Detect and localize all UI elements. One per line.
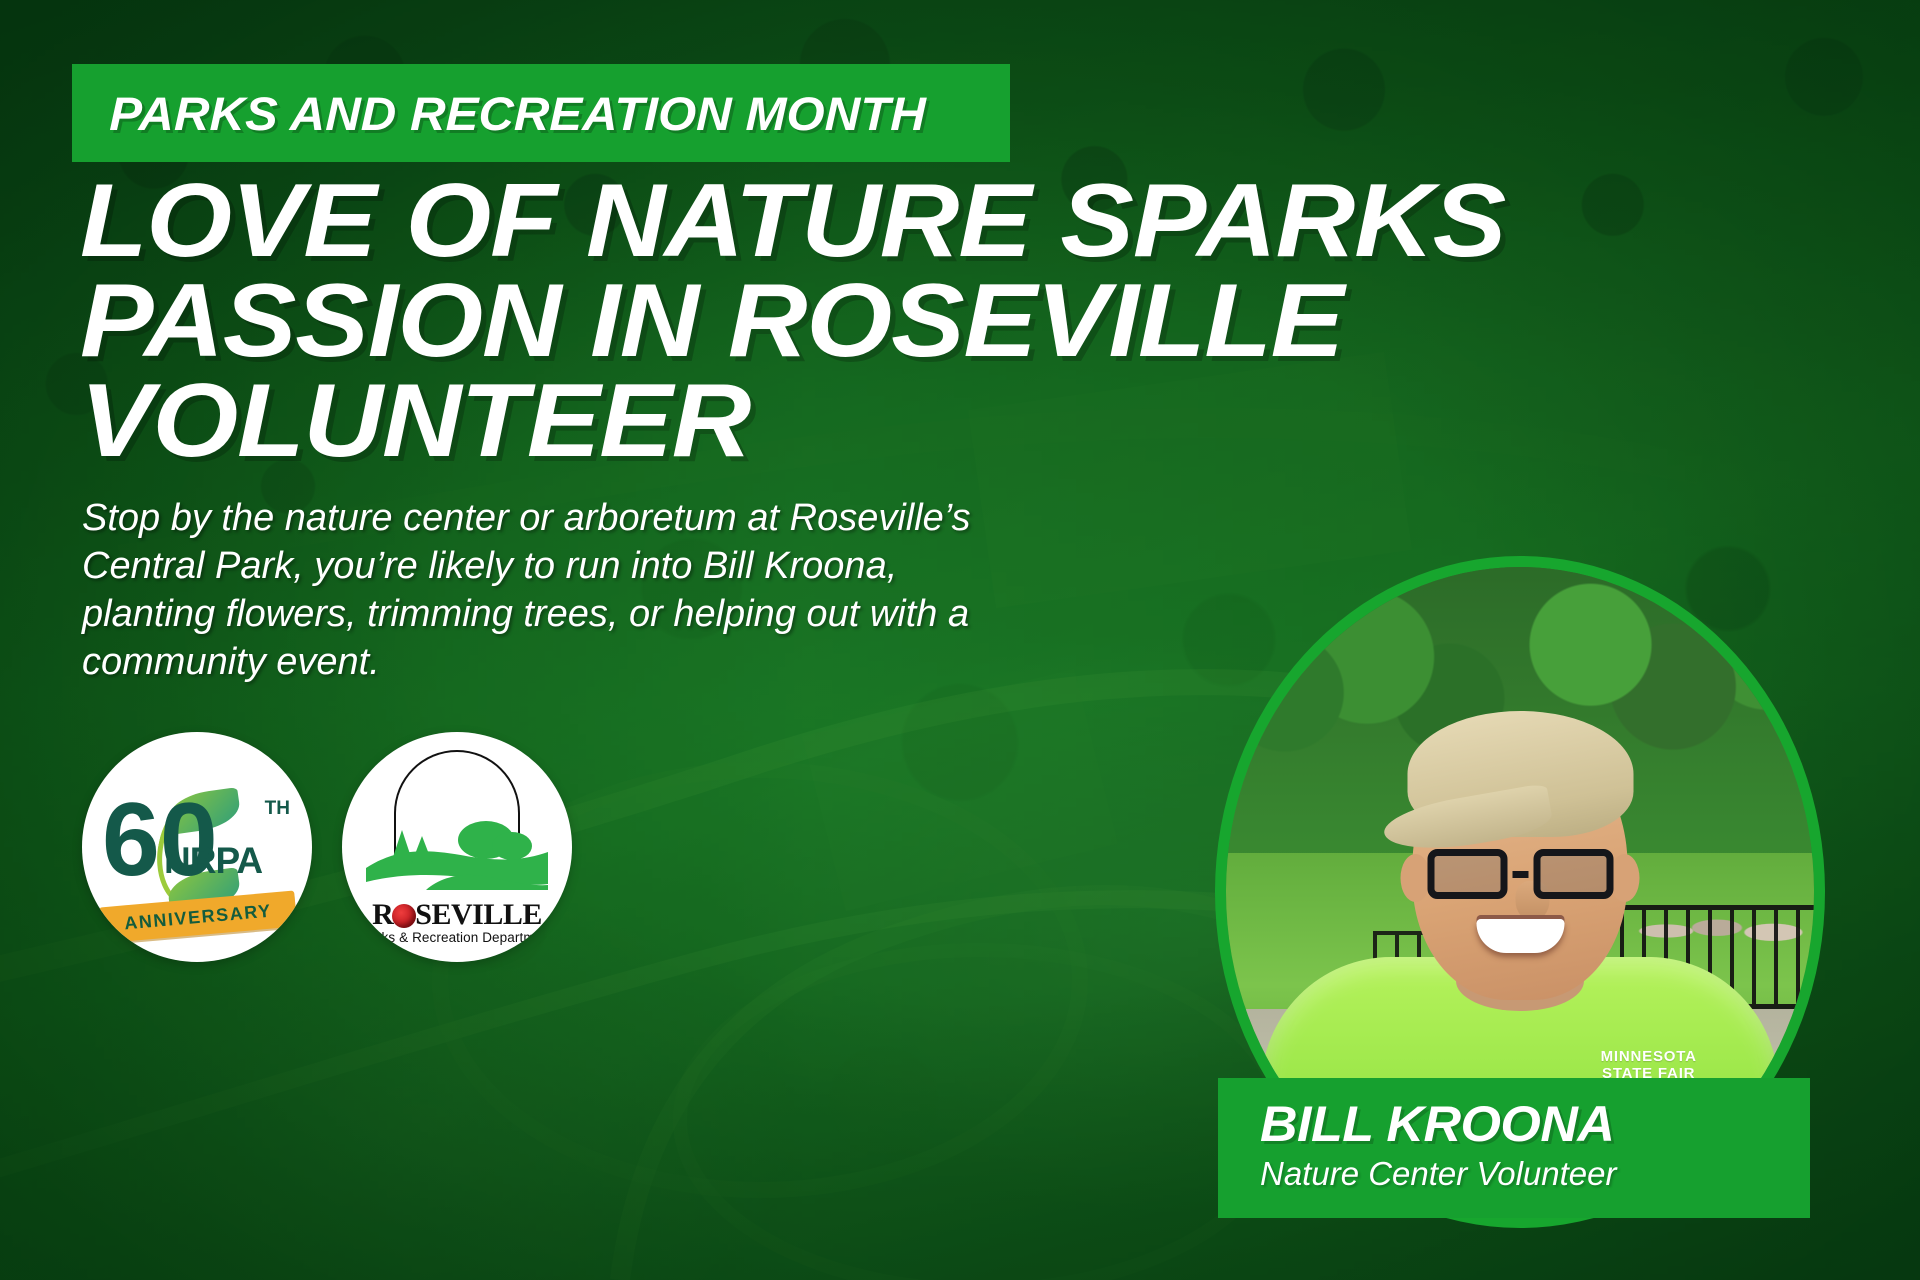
roseville-wordmark: RSEVILLE	[342, 898, 572, 932]
eyeglass-lens	[1533, 849, 1613, 899]
nrpa-anniversary-ribbon: ANNIVERSARY	[99, 891, 297, 944]
roseville-wordmark-rest: SEVILLE	[415, 898, 542, 931]
nrpa-anniversary-label: ANNIVERSARY	[123, 900, 272, 934]
portrait-eyeglasses	[1427, 848, 1613, 900]
portrait-ear	[1610, 854, 1640, 902]
portrait-head	[1413, 730, 1628, 1000]
nrpa-ordinal: TH	[265, 798, 290, 820]
eyeglass-bridge	[1512, 871, 1528, 878]
portrait-baseball-cap	[1407, 711, 1633, 837]
nameplate-banner: BILL KROONA Nature Center Volunteer	[1218, 1078, 1810, 1218]
roseville-landscape-icon	[366, 816, 548, 890]
body-paragraph: Stop by the nature center or arboretum a…	[82, 495, 972, 687]
portrait-smile	[1476, 919, 1564, 953]
eyebrow-banner: PARKS AND RECREATION MONTH	[72, 64, 1010, 162]
shirt-logo-line-1: MINNESOTA	[1579, 1048, 1719, 1065]
rose-flower-icon	[392, 904, 416, 928]
poster-content: PARKS AND RECREATION MONTH LOVE OF NATUR…	[0, 0, 1920, 1280]
roseville-department-label: Parks & Recreation Department	[342, 930, 572, 945]
volunteer-name: BILL KROONA	[1260, 1098, 1832, 1151]
logo-row: 60 TH NRPA ANNIVERSARY	[82, 732, 572, 962]
roseville-parks-recreation-logo: RSEVILLE Parks & Recreation Department	[342, 732, 572, 962]
roseville-wordmark-initial: R	[372, 898, 393, 931]
nrpa-60th-anniversary-logo: 60 TH NRPA ANNIVERSARY	[82, 732, 312, 962]
eyeglass-lens	[1427, 849, 1507, 899]
eyebrow-label: PARKS AND RECREATION MONTH	[72, 86, 927, 141]
page-title: LOVE OF NATURE SPARKS PASSION IN ROSEVIL…	[80, 172, 1596, 471]
portrait-ear	[1401, 854, 1431, 902]
nrpa-wordmark: NRPA	[164, 840, 262, 882]
volunteer-role: Nature Center Volunteer	[1260, 1155, 1810, 1193]
